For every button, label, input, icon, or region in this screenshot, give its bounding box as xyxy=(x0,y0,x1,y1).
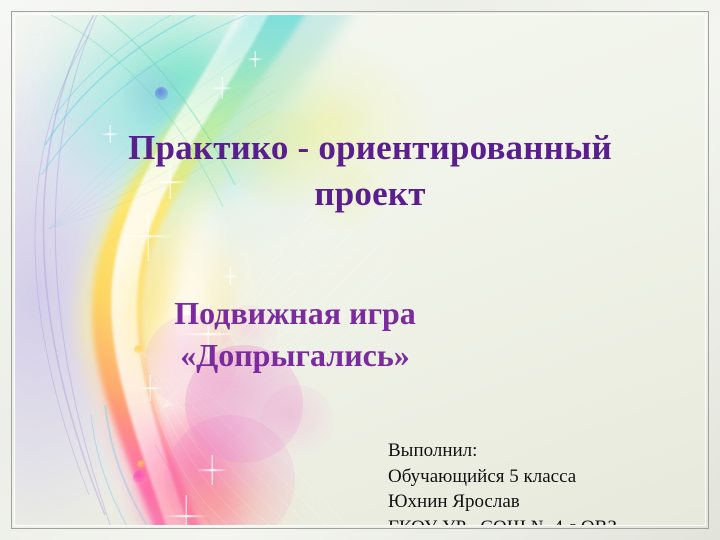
slide-subtitle-line-2: «Допрыгались» xyxy=(45,334,545,376)
author-school: ГКОУ УР «СОШ № 4 с ОВЗ» xyxy=(388,515,705,526)
presentation-slide: Практико - ориентированный проект Подвиж… xyxy=(0,0,720,540)
slide-title-line-1: Практико - ориентированный xyxy=(55,125,685,171)
slide-text-layer: Практико - ориентированный проект Подвиж… xyxy=(15,15,705,525)
author-name: Юхнин Ярослав xyxy=(388,489,705,515)
slide-title: Практико - ориентированный проект xyxy=(55,125,685,217)
slide-title-line-2: проект xyxy=(55,171,685,217)
slide-subtitle-line-1: Подвижная игра xyxy=(45,292,545,334)
author-grade: Обучающийся 5 класса xyxy=(388,464,705,490)
author-block: Выполнил: Обучающийся 5 класса Юхнин Яро… xyxy=(388,438,705,525)
slide-subtitle: Подвижная игра «Допрыгались» xyxy=(45,292,545,376)
slide-canvas: Практико - ориентированный проект Подвиж… xyxy=(15,15,705,525)
author-label: Выполнил: xyxy=(388,438,705,464)
